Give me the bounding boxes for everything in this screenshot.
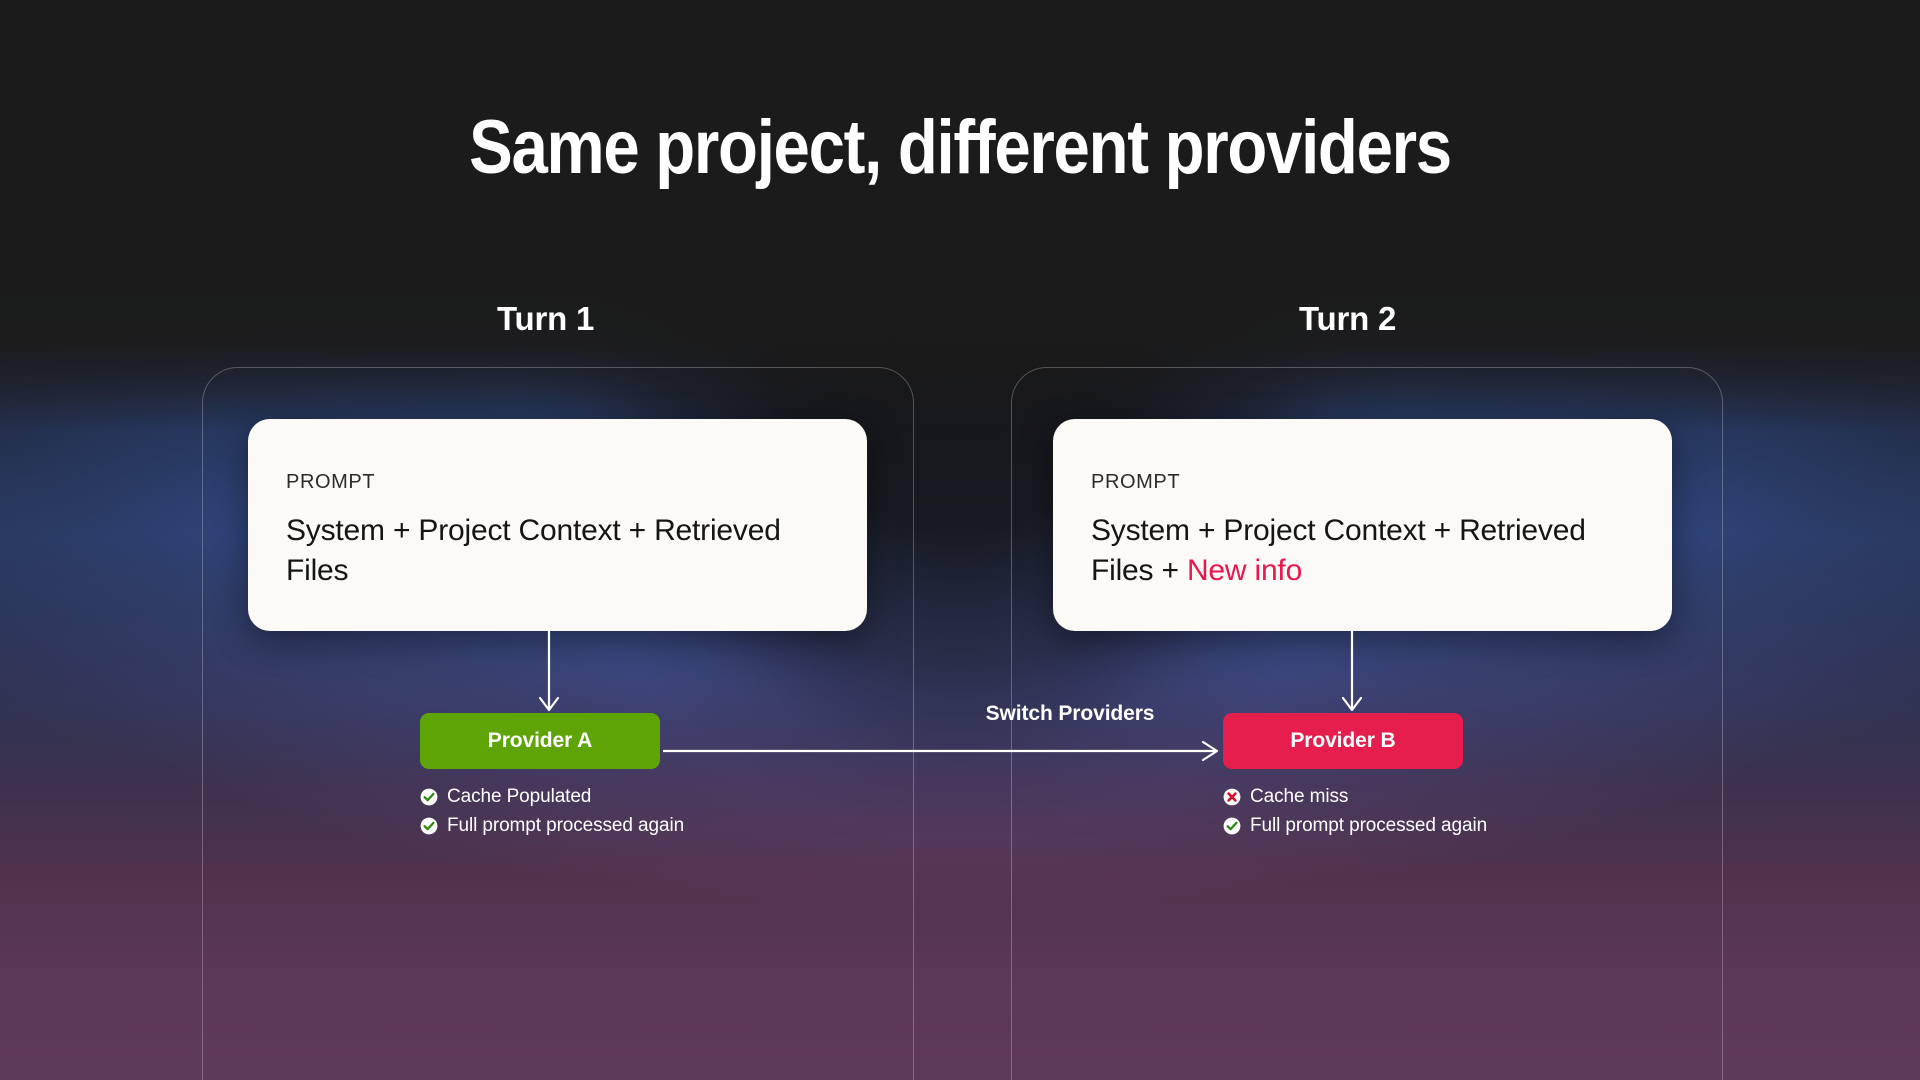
prompt-card-2: PROMPT System + Project Context + Retrie… <box>1053 419 1672 631</box>
status-label: Full prompt processed again <box>1250 815 1487 837</box>
status-row: Cache miss <box>1223 786 1487 808</box>
turn-heading-1: Turn 1 <box>497 300 594 338</box>
switch-providers-arrow-icon <box>663 738 1223 764</box>
status-row: Cache Populated <box>420 786 684 808</box>
status-list-1: Cache Populated Full prompt processed ag… <box>420 786 684 844</box>
down-arrow-icon-1 <box>536 628 562 716</box>
prompt-body-1: System + Project Context + Retrieved Fil… <box>286 511 829 591</box>
check-circle-icon <box>420 817 438 835</box>
provider-label-b: Provider B <box>1290 729 1395 753</box>
check-circle-icon <box>1223 817 1241 835</box>
provider-label-a: Provider A <box>488 729 592 753</box>
page-title: Same project, different providers <box>134 104 1785 191</box>
prompt-label-1: PROMPT <box>286 471 829 494</box>
prompt-text-1: System + Project Context + Retrieved Fil… <box>286 514 781 587</box>
diagram-content: Same project, different providers Turn 1… <box>0 0 1920 1080</box>
switch-providers-label: Switch Providers <box>870 702 1270 726</box>
status-label: Cache Populated <box>447 786 591 808</box>
prompt-label-2: PROMPT <box>1091 471 1634 494</box>
prompt-highlight-2: New info <box>1187 554 1302 587</box>
prompt-card-1: PROMPT System + Project Context + Retrie… <box>248 419 867 631</box>
diagram-canvas: Same project, different providers Turn 1… <box>0 0 1920 1080</box>
status-label: Cache miss <box>1250 786 1348 808</box>
prompt-text-2: System + Project Context + Retrieved Fil… <box>1091 514 1586 587</box>
prompt-body-2: System + Project Context + Retrieved Fil… <box>1091 511 1634 591</box>
turn-heading-2: Turn 2 <box>1299 300 1396 338</box>
x-circle-icon <box>1223 788 1241 806</box>
down-arrow-icon-2 <box>1339 628 1365 716</box>
status-list-2: Cache miss Full prompt processed again <box>1223 786 1487 844</box>
status-row: Full prompt processed again <box>1223 815 1487 837</box>
check-circle-icon <box>420 788 438 806</box>
status-label: Full prompt processed again <box>447 815 684 837</box>
status-row: Full prompt processed again <box>420 815 684 837</box>
provider-pill-a[interactable]: Provider A <box>420 713 660 769</box>
